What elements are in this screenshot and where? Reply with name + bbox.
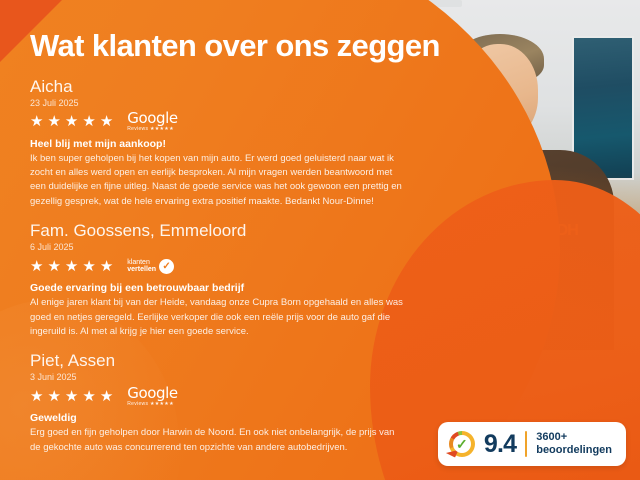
review-body: Al enige jaren klant bij van der Heide, … bbox=[30, 296, 404, 339]
overall-score-badge: ✓ 9.4 3600+ beoordelingen bbox=[438, 422, 626, 466]
star-icon: ★ bbox=[47, 114, 60, 129]
star-rating: ★ ★ ★ ★ ★ bbox=[30, 114, 113, 129]
star-icon: ★ bbox=[65, 389, 78, 404]
klantenvertellen-line1: klanten bbox=[127, 259, 156, 266]
score-value: 9.4 bbox=[484, 432, 516, 457]
star-icon: ★ bbox=[65, 259, 78, 274]
review-body: Ik ben super geholpen bij het kopen van … bbox=[30, 152, 404, 209]
star-icon: ★ bbox=[100, 389, 113, 404]
check-circle-icon: ✓ bbox=[159, 259, 174, 274]
review-title: Heel blij met mijn aankoop! bbox=[30, 138, 404, 150]
checkmark-icon: ✓ bbox=[456, 437, 468, 451]
reviewer-name: Piet, Assen bbox=[30, 351, 404, 371]
review-meta: ★ ★ ★ ★ ★ Google Reviews ★★★★★ bbox=[30, 385, 404, 407]
google-reviews-subtext: Reviews ★★★★★ bbox=[127, 127, 178, 132]
review-title: Goede ervaring bij een betrouwbaar bedri… bbox=[30, 282, 404, 294]
star-icon: ★ bbox=[82, 259, 95, 274]
review-meta: ★ ★ ★ ★ ★ Google Reviews ★★★★★ bbox=[30, 111, 404, 133]
review-card: Aicha 23 Juli 2025 ★ ★ ★ ★ ★ Google Revi… bbox=[30, 77, 404, 209]
google-reviews-subtext: Reviews ★★★★★ bbox=[127, 402, 178, 407]
star-icon: ★ bbox=[100, 114, 113, 129]
review-title: Geweldig bbox=[30, 412, 404, 424]
review-date: 3 Juni 2025 bbox=[30, 372, 404, 382]
review-body: Erg goed en fijn geholpen door Harwin de… bbox=[30, 426, 404, 455]
google-reviews-logo: Google Reviews ★★★★★ bbox=[127, 386, 178, 407]
star-icon: ★ bbox=[30, 259, 43, 274]
score-count-block: 3600+ beoordelingen bbox=[536, 431, 612, 457]
klantenvertellen-seal-icon: ✓ bbox=[449, 431, 475, 457]
review-meta: ★ ★ ★ ★ ★ klanten vertellen ✓ bbox=[30, 255, 404, 277]
customer-reviews-banner: VDH Wat klanten over ons zeggen Aicha 23… bbox=[0, 0, 640, 480]
klantenvertellen-logo: klanten vertellen ✓ bbox=[127, 259, 174, 274]
review-date: 6 Juli 2025 bbox=[30, 242, 404, 252]
review-date: 23 Juli 2025 bbox=[30, 98, 404, 108]
klantenvertellen-line2: vertellen bbox=[127, 266, 156, 273]
star-icon: ★ bbox=[30, 114, 43, 129]
google-logo-text: Google bbox=[127, 111, 178, 126]
reviewer-name: Fam. Goossens, Emmeloord bbox=[30, 221, 404, 241]
klantenvertellen-wordmark: klanten vertellen bbox=[127, 259, 156, 274]
review-count-label: beoordelingen bbox=[536, 444, 612, 457]
google-logo-text: Google bbox=[127, 386, 178, 401]
review-card: Piet, Assen 3 Juni 2025 ★ ★ ★ ★ ★ Google… bbox=[30, 351, 404, 455]
star-icon: ★ bbox=[47, 259, 60, 274]
star-icon: ★ bbox=[47, 389, 60, 404]
review-card: Fam. Goossens, Emmeloord 6 Juli 2025 ★ ★… bbox=[30, 221, 404, 339]
review-count: 3600+ bbox=[536, 431, 612, 444]
star-rating: ★ ★ ★ ★ ★ bbox=[30, 389, 113, 404]
star-icon: ★ bbox=[82, 114, 95, 129]
google-reviews-logo: Google Reviews ★★★★★ bbox=[127, 111, 178, 132]
star-icon: ★ bbox=[30, 389, 43, 404]
star-icon: ★ bbox=[65, 114, 78, 129]
seal-inner: ✓ bbox=[453, 435, 471, 453]
page-title: Wat klanten over ons zeggen bbox=[30, 30, 640, 63]
reviewer-name: Aicha bbox=[30, 77, 404, 97]
star-rating: ★ ★ ★ ★ ★ bbox=[30, 259, 113, 274]
score-divider bbox=[525, 431, 527, 457]
banner-content: Wat klanten over ons zeggen Aicha 23 Jul… bbox=[0, 0, 640, 480]
star-icon: ★ bbox=[82, 389, 95, 404]
star-icon: ★ bbox=[100, 259, 113, 274]
